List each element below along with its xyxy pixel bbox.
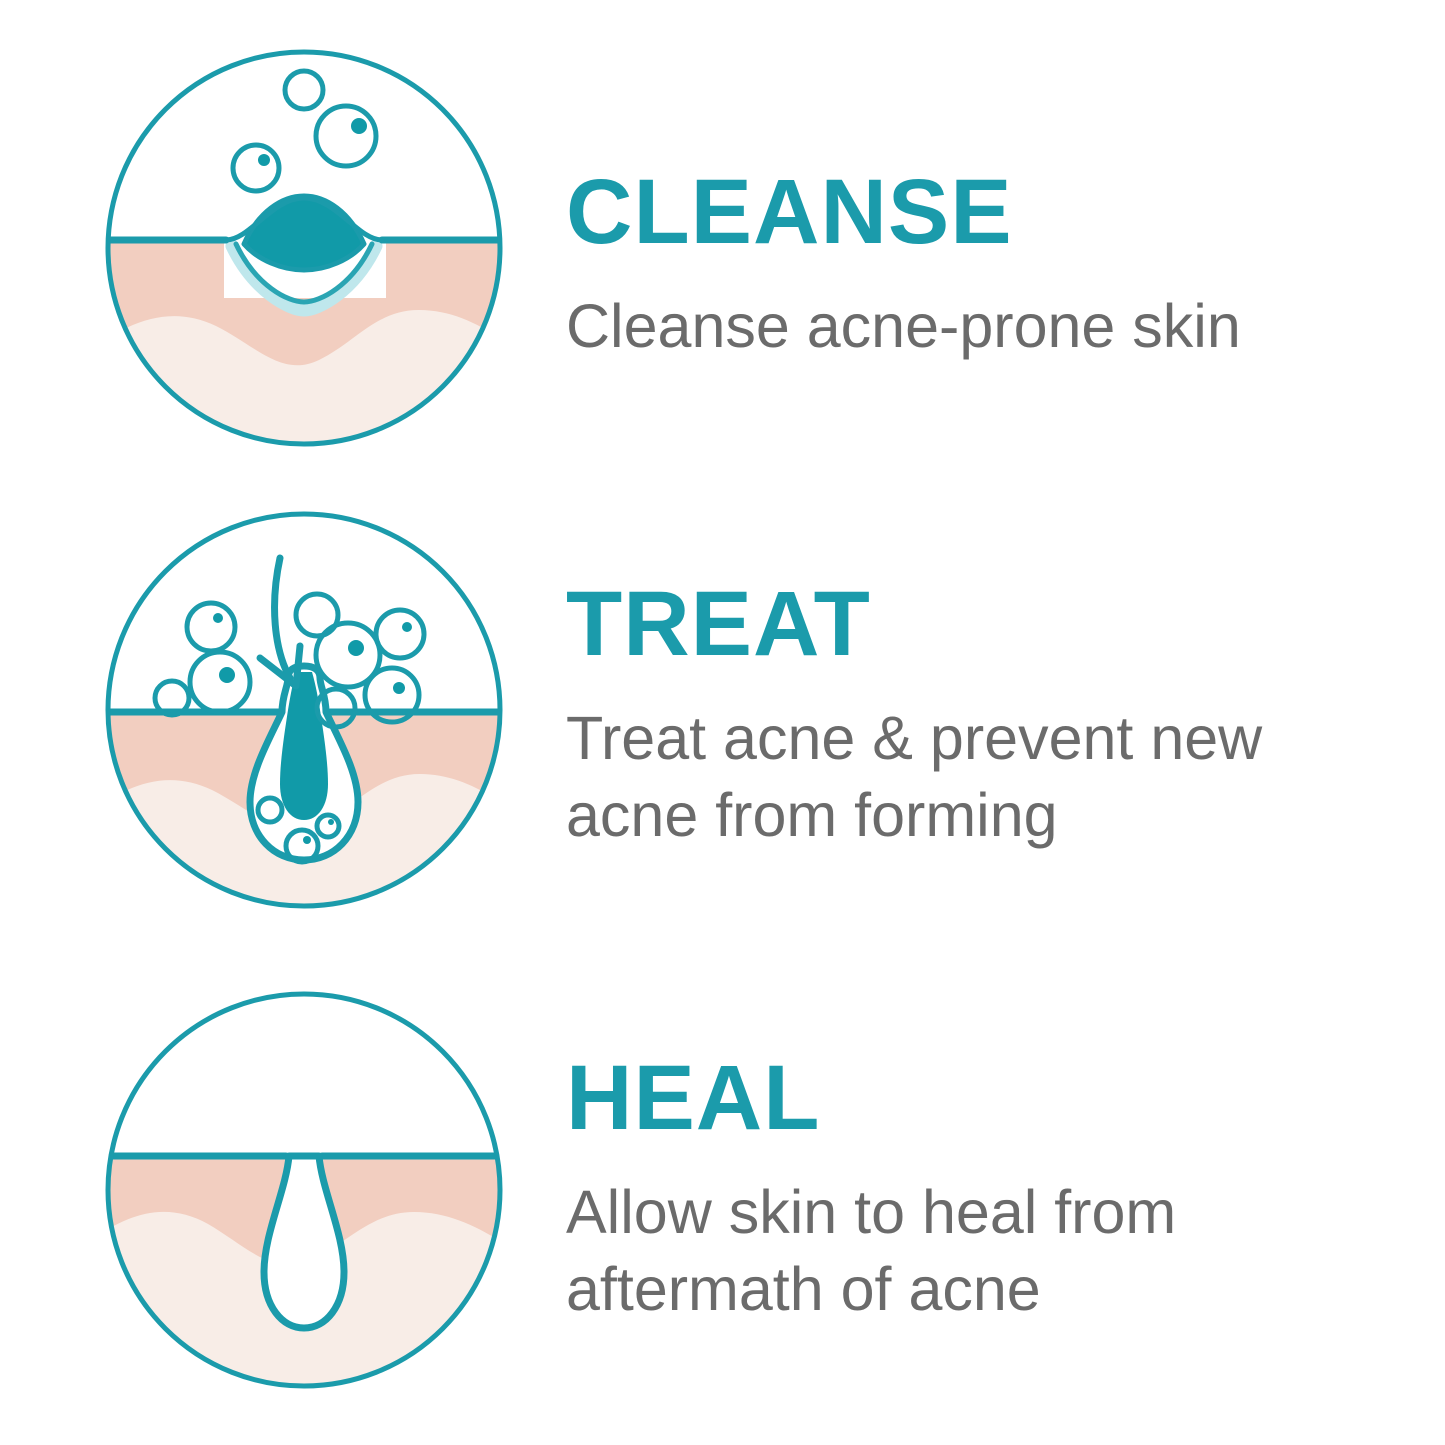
step-text-heal: HEAL Allow skin to heal from aftermath o…	[566, 990, 1445, 1328]
step-title-treat: TREAT	[566, 578, 1445, 670]
step-text-treat: TREAT Treat acne & prevent new acne from…	[566, 510, 1445, 854]
pimple-with-bubbles-icon	[104, 48, 504, 448]
step-description-treat: Treat acne & prevent new acne from formi…	[566, 700, 1366, 854]
pore-treatment-icon	[104, 510, 504, 910]
step-title-heal: HEAL	[566, 1052, 1445, 1144]
step-row-treat: TREAT Treat acne & prevent new acne from…	[0, 510, 1445, 930]
infographic-board: CLEANSE Cleanse acne-prone skin	[0, 0, 1445, 1445]
step-description-cleanse: Cleanse acne-prone skin	[566, 288, 1366, 365]
clear-pore-icon	[104, 990, 504, 1390]
step-text-cleanse: CLEANSE Cleanse acne-prone skin	[566, 48, 1445, 365]
step-title-cleanse: CLEANSE	[566, 166, 1445, 258]
step-row-cleanse: CLEANSE Cleanse acne-prone skin	[0, 48, 1445, 468]
step-description-heal: Allow skin to heal from aftermath of acn…	[566, 1174, 1366, 1328]
step-row-heal: HEAL Allow skin to heal from aftermath o…	[0, 990, 1445, 1410]
